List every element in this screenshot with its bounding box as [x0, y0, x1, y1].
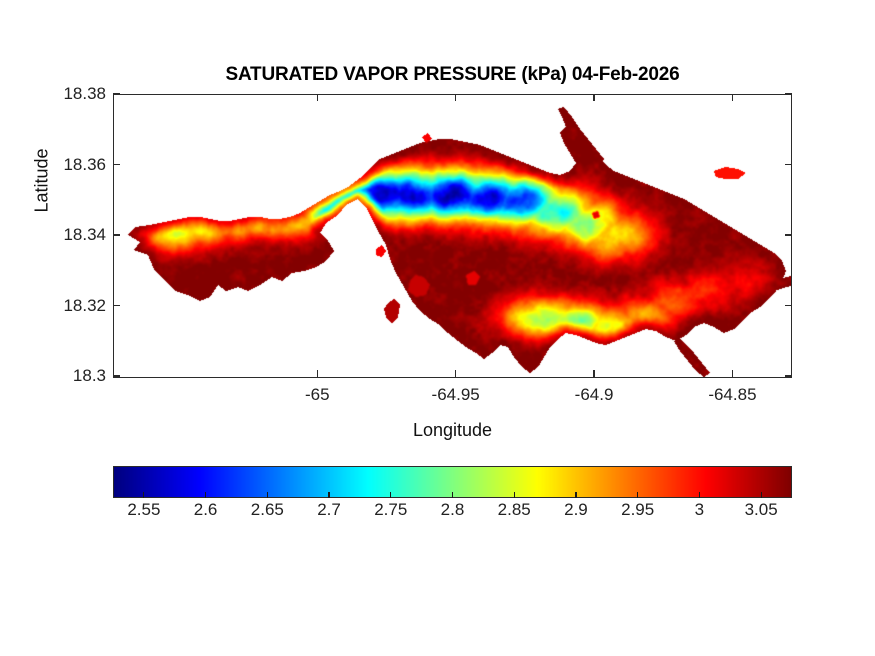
x-tick-mark	[593, 370, 594, 377]
colorbar-tick-mark	[637, 492, 638, 498]
x-tick-mark	[317, 94, 318, 101]
colorbar-tick-mark	[205, 492, 206, 498]
colorbar-tick-mark	[267, 492, 268, 498]
y-tick-label: 18.32	[63, 296, 106, 316]
y-tick-mark	[113, 93, 120, 94]
y-tick-mark	[113, 234, 120, 235]
x-tick-mark	[317, 370, 318, 377]
y-tick-mark	[785, 164, 792, 165]
colorbar-tick-mark	[328, 492, 329, 498]
y-tick-label: 18.38	[63, 84, 106, 104]
x-tick-mark	[593, 94, 594, 101]
y-tick-mark	[785, 234, 792, 235]
x-tick-label: -64.9	[575, 385, 614, 405]
colorbar-tick-label: 2.65	[251, 500, 284, 520]
y-tick-mark	[785, 305, 792, 306]
y-tick-mark	[785, 93, 792, 94]
colorbar-tick-mark	[514, 492, 515, 498]
colorbar-tick-label: 2.7	[317, 500, 341, 520]
heatmap-canvas	[114, 95, 791, 377]
y-tick-mark	[113, 164, 120, 165]
colorbar-tick-label: 2.75	[374, 500, 407, 520]
y-tick-mark	[785, 375, 792, 376]
y-tick-mark	[113, 305, 120, 306]
colorbar-tick-label: 3	[695, 500, 704, 520]
x-tick-label: -64.95	[432, 385, 480, 405]
colorbar-tick-mark	[575, 492, 576, 498]
colorbar-tick-mark	[452, 492, 453, 498]
y-tick-label: 18.34	[63, 225, 106, 245]
x-tick-mark	[455, 370, 456, 377]
x-tick-mark	[732, 370, 733, 377]
colorbar-tick-mark	[143, 492, 144, 498]
y-tick-label: 18.3	[73, 366, 106, 386]
colorbar-tick-label: 2.95	[621, 500, 654, 520]
colorbar-tick-label: 2.8	[441, 500, 465, 520]
x-axis-label: Longitude	[113, 420, 792, 441]
x-tick-label: -64.85	[708, 385, 756, 405]
colorbar-tick-label: 2.6	[194, 500, 218, 520]
y-tick-mark	[113, 375, 120, 376]
x-tick-mark	[732, 94, 733, 101]
matlab-figure: SATURATED VAPOR PRESSURE (kPa) 04-Feb-20…	[0, 0, 875, 656]
colorbar-tick-label: 2.85	[498, 500, 531, 520]
y-tick-label: 18.36	[63, 155, 106, 175]
colorbar-tick-label: 3.05	[745, 500, 778, 520]
x-tick-label: -65	[305, 385, 330, 405]
colorbar-tick-label: 2.9	[564, 500, 588, 520]
colorbar-tick-mark	[699, 492, 700, 498]
colorbar-tick-label: 2.55	[127, 500, 160, 520]
y-axis-label: Latitude	[32, 121, 53, 241]
map-axes	[113, 94, 792, 378]
x-tick-mark	[455, 94, 456, 101]
colorbar-tick-mark	[390, 492, 391, 498]
page-title: SATURATED VAPOR PRESSURE (kPa) 04-Feb-20…	[113, 64, 792, 86]
colorbar-tick-mark	[761, 492, 762, 498]
